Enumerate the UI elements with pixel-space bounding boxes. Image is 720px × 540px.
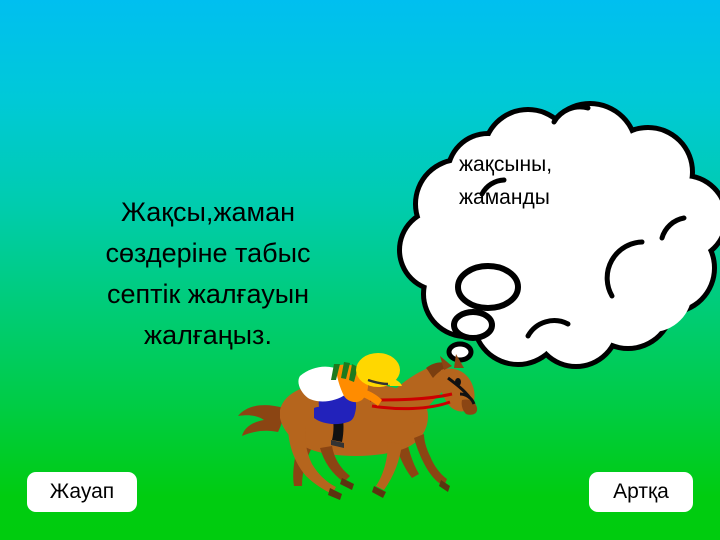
slide-canvas: Жақсы,жаман сөздеріне табыс септік жалға… — [0, 0, 720, 540]
horse-muzzle — [462, 399, 477, 414]
horse-ear-far — [454, 354, 464, 368]
horse-illustration-graphic — [236, 348, 482, 508]
answer-button[interactable]: Жауап — [27, 472, 137, 512]
tail-bubble-1 — [458, 266, 518, 308]
saddle — [314, 405, 355, 424]
answer-button-label: Жауап — [50, 480, 114, 504]
tail-bubble-2 — [454, 312, 492, 338]
question-text: Жақсы,жаман сөздеріне табыс септік жалға… — [58, 192, 358, 356]
horse-hoof-hind-near — [328, 488, 342, 500]
back-button-label: Артқа — [613, 480, 669, 504]
horse-with-jockey-image — [236, 348, 482, 508]
horse-leg-front-far-2 — [414, 434, 447, 486]
back-button[interactable]: Артқа — [589, 472, 693, 512]
horse-tail — [238, 405, 284, 436]
thought-bubble-text: жақсыны, жаманды — [459, 148, 639, 214]
horse-hoof-hind-2 — [340, 478, 354, 490]
